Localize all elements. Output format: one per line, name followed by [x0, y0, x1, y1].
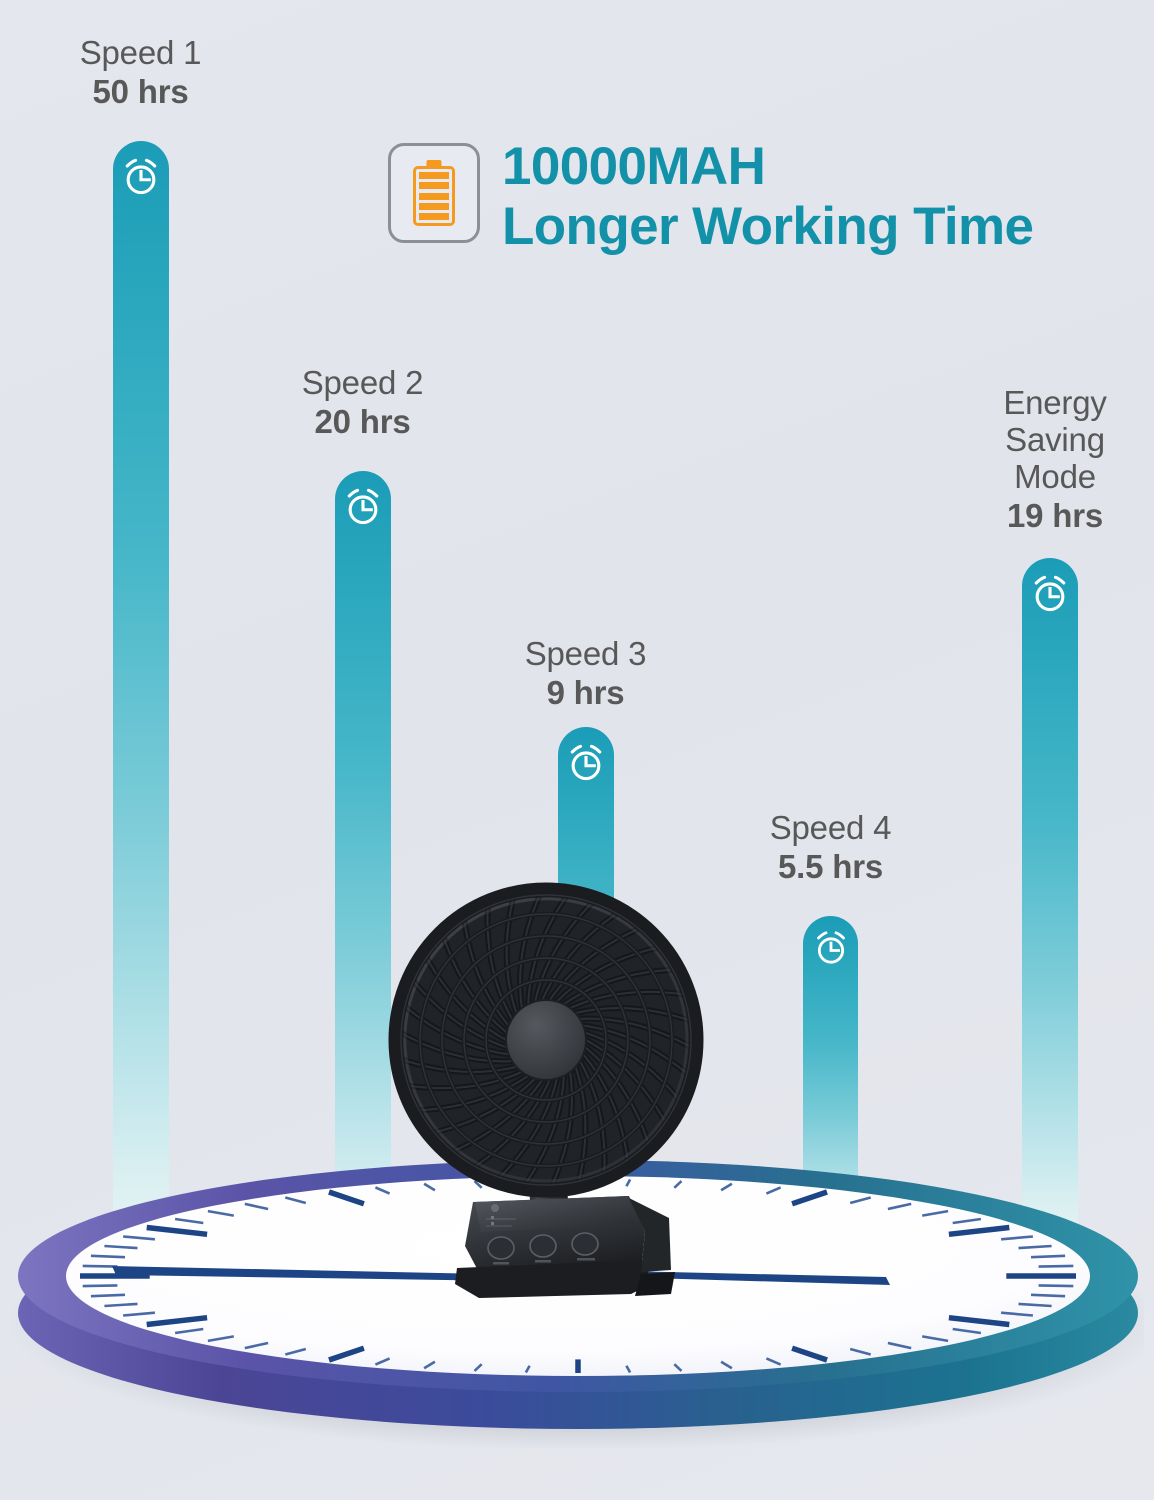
- alarm-clock-icon: [811, 928, 851, 968]
- fan-grille: [394, 888, 698, 1192]
- alarm-clock-icon: [564, 741, 608, 785]
- bar-label-value: 20 hrs: [255, 404, 470, 441]
- bar-label-name: Speed 3: [478, 636, 693, 673]
- bar-label-speed-2: Speed 220 hrs: [255, 365, 470, 441]
- bar-label-value: 50 hrs: [33, 74, 248, 111]
- alarm-clock-icon: [341, 485, 385, 529]
- bar-label-value: 19 hrs: [960, 498, 1150, 535]
- bar-label-name: Speed 2: [255, 365, 470, 402]
- infographic-canvas: Speed 150 hrsSpeed 220 hrsSpeed 39 hrsSp…: [0, 0, 1154, 1500]
- portable-clip-fan: [383, 880, 713, 1340]
- title-line-2: Longer Working Time: [502, 197, 1033, 257]
- alarm-clock-icon: [564, 741, 608, 785]
- bar-label-name: Energy Saving Mode: [960, 385, 1150, 496]
- alarm-clock-icon: [1028, 572, 1072, 616]
- bar-label-name: Speed 4: [723, 810, 938, 847]
- page-title: 10000MAH Longer Working Time: [502, 137, 1033, 258]
- bar-label-name: Speed 1: [33, 35, 248, 72]
- bar-label-energy-saving-mode: Energy Saving Mode19 hrs: [960, 385, 1150, 535]
- alarm-clock-icon: [119, 155, 163, 199]
- bar-label-speed-3: Speed 39 hrs: [478, 636, 693, 712]
- fan-buttons[interactable]: [488, 1233, 598, 1259]
- fan-control-base: [455, 1196, 675, 1298]
- bar-label-value: 5.5 hrs: [723, 849, 938, 886]
- bar-label-speed-1: Speed 150 hrs: [33, 35, 248, 111]
- bar-speed-1: [113, 141, 169, 1251]
- battery-icon: [388, 143, 480, 243]
- bar-label-value: 9 hrs: [478, 675, 693, 712]
- bar-label-speed-4: Speed 45.5 hrs: [723, 810, 938, 886]
- alarm-clock-icon: [119, 155, 163, 199]
- battery-cells: [413, 166, 455, 226]
- header: 10000MAH Longer Working Time: [388, 137, 1033, 258]
- alarm-clock-icon: [811, 928, 851, 968]
- alarm-clock-icon: [341, 485, 385, 529]
- title-line-1: 10000MAH: [502, 137, 1033, 197]
- alarm-clock-icon: [1028, 572, 1072, 616]
